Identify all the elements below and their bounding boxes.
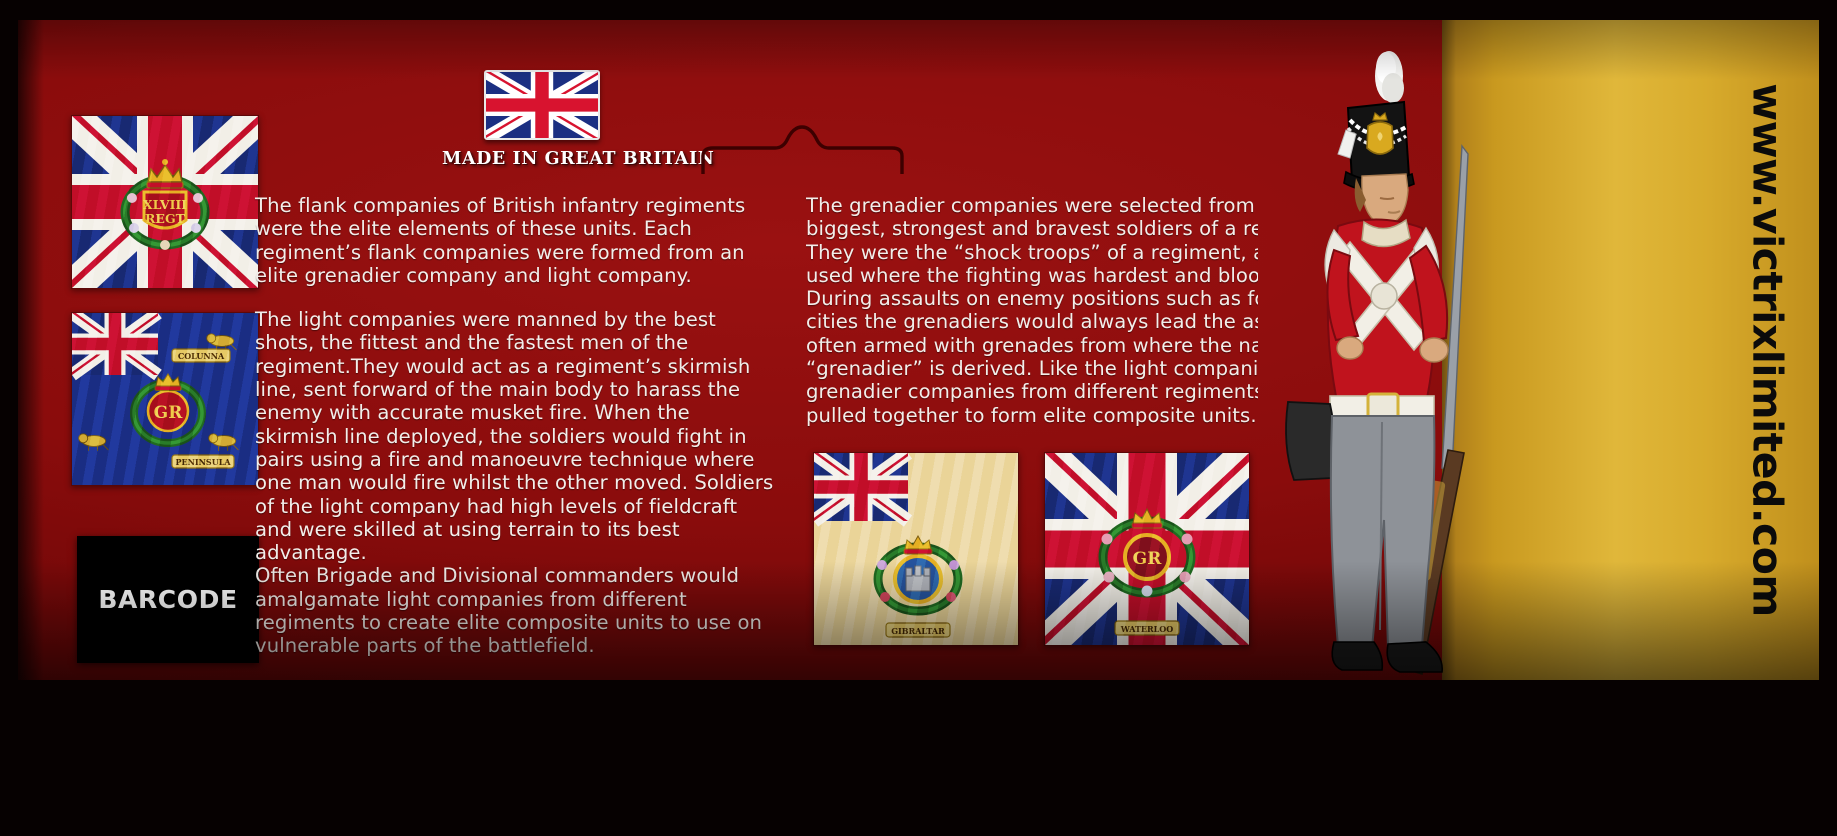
package-back-artwork: www.victrixlimited.com xyxy=(0,0,1837,836)
vignette-overlay xyxy=(18,20,1819,680)
card-panel: www.victrixlimited.com xyxy=(18,20,1819,680)
